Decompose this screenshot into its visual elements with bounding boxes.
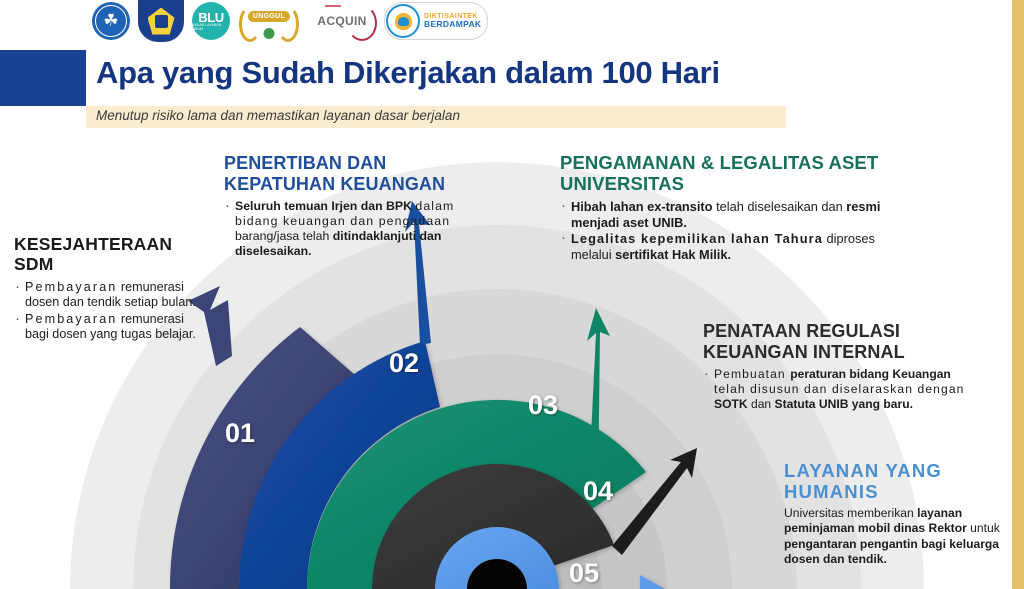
block-layanan-humanis: LAYANAN YANG HUMANIS Universitas memberi…: [784, 460, 1016, 567]
list-item: Pembayaran remunerasi dosen dan tendik s…: [14, 280, 204, 311]
block-list: Seluruh temuan Irjen dan BPK dalam bidan…: [224, 199, 496, 259]
block-pengamanan-legalitas-aset: PENGAMANAN & LEGALITAS ASET UNIVERSITAS …: [560, 152, 890, 264]
list-item: Legalitas kepemilikan lahan Tahura dipro…: [560, 231, 890, 262]
page-title: Apa yang Sudah Dikerjakan dalam 100 Hari: [96, 55, 720, 91]
block-list: Pembuatan peraturan bidang Keuangan tela…: [703, 367, 965, 411]
block-list: Pembayaran remunerasi dosen dan tendik s…: [14, 280, 204, 342]
list-item: Pembuatan peraturan bidang Keuangan tela…: [703, 367, 965, 411]
blu-logo: BLU BADAN LAYANAN UMUM: [192, 2, 230, 40]
block-paragraph: Universitas memberikan layanan peminjama…: [784, 506, 1016, 567]
acquin-logo: ACQUIN: [308, 2, 376, 40]
page-subtitle: Menutup risiko lama dan memastikan layan…: [96, 108, 460, 123]
list-item: Seluruh temuan Irjen dan BPK dalam bidan…: [224, 199, 496, 259]
tut-wuri-handayani-logo: ☘: [92, 2, 130, 40]
ring-number-04: 04: [583, 476, 613, 506]
infographic-slide: 01 02 03 04 05 ☘ BLU BADAN LAYANAN UMUM …: [0, 0, 1024, 589]
block-heading: PENERTIBAN DAN KEPATUHAN KEUANGAN: [224, 153, 496, 194]
block-penataan-regulasi-keuangan: PENATAAN REGULASI KEUANGAN INTERNAL Pemb…: [703, 321, 965, 412]
diktisaintek-berdampak-logo: DIKTISAINTEK BERDAMPAK: [384, 2, 488, 40]
unib-logo: [138, 0, 184, 42]
header-blue-block: [0, 50, 86, 106]
blu-logo-sub: BADAN LAYANAN UMUM: [192, 24, 230, 31]
ring-number-02: 02: [389, 348, 419, 378]
block-heading: KESEJAHTERAAN SDM: [14, 235, 204, 275]
list-item: Hibah lahan ex-transito telah diselesaik…: [560, 199, 890, 230]
block-heading: PENGAMANAN & LEGALITAS ASET UNIVERSITAS: [560, 152, 890, 194]
block-heading: PENATAAN REGULASI KEUANGAN INTERNAL: [703, 321, 965, 362]
block-list: Hibah lahan ex-transito telah diselesaik…: [560, 199, 890, 262]
logo-row: ☘ BLU BADAN LAYANAN UMUM UNGGUL ACQUIN D…: [92, 0, 488, 42]
block-kesejahteraan-sdm: KESEJAHTERAAN SDM Pembayaran remunerasi …: [14, 235, 204, 343]
dikti-label-bottom: BERDAMPAK: [424, 20, 481, 29]
block-penertiban-kepatuhan-keuangan: PENERTIBAN DAN KEPATUHAN KEUANGAN Seluru…: [224, 153, 496, 260]
ring-number-03: 03: [528, 390, 558, 420]
list-item: Pembayaran remunerasi bagi dosen yang tu…: [14, 312, 204, 343]
ring-number-01: 01: [225, 418, 255, 448]
unggul-logo: UNGGUL: [238, 2, 300, 40]
block-heading: LAYANAN YANG HUMANIS: [784, 460, 1016, 502]
ring-number-05: 05: [569, 558, 599, 588]
